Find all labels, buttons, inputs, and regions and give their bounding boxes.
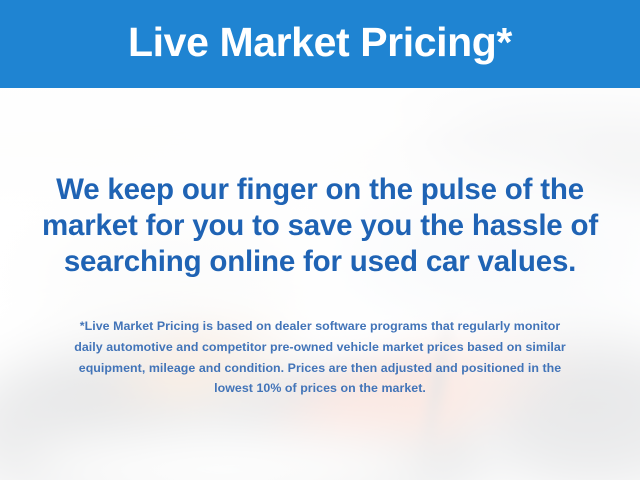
headline-line-3: searching online for used car values. bbox=[0, 244, 640, 280]
disclaimer-line-4: lowest 10% of prices on the market. bbox=[34, 378, 606, 399]
disclaimer-text: *Live Market Pricing is based on dealer … bbox=[34, 316, 606, 399]
page-title: Live Market Pricing* bbox=[128, 22, 512, 66]
headline-line-1: We keep our finger on the pulse of the bbox=[0, 172, 640, 208]
header-banner: Live Market Pricing* bbox=[0, 0, 640, 88]
headline-text: We keep our finger on the pulse of the m… bbox=[0, 172, 640, 280]
disclaimer-line-2: daily automotive and competitor pre-owne… bbox=[34, 337, 606, 358]
live-market-pricing-banner: Live Market Pricing* We keep our finger … bbox=[0, 0, 640, 480]
content-area: We keep our finger on the pulse of the m… bbox=[0, 88, 640, 480]
disclaimer-line-1: *Live Market Pricing is based on dealer … bbox=[34, 316, 606, 337]
headline-line-2: market for you to save you the hassle of bbox=[0, 208, 640, 244]
disclaimer-line-3: equipment, mileage and condition. Prices… bbox=[34, 358, 606, 379]
